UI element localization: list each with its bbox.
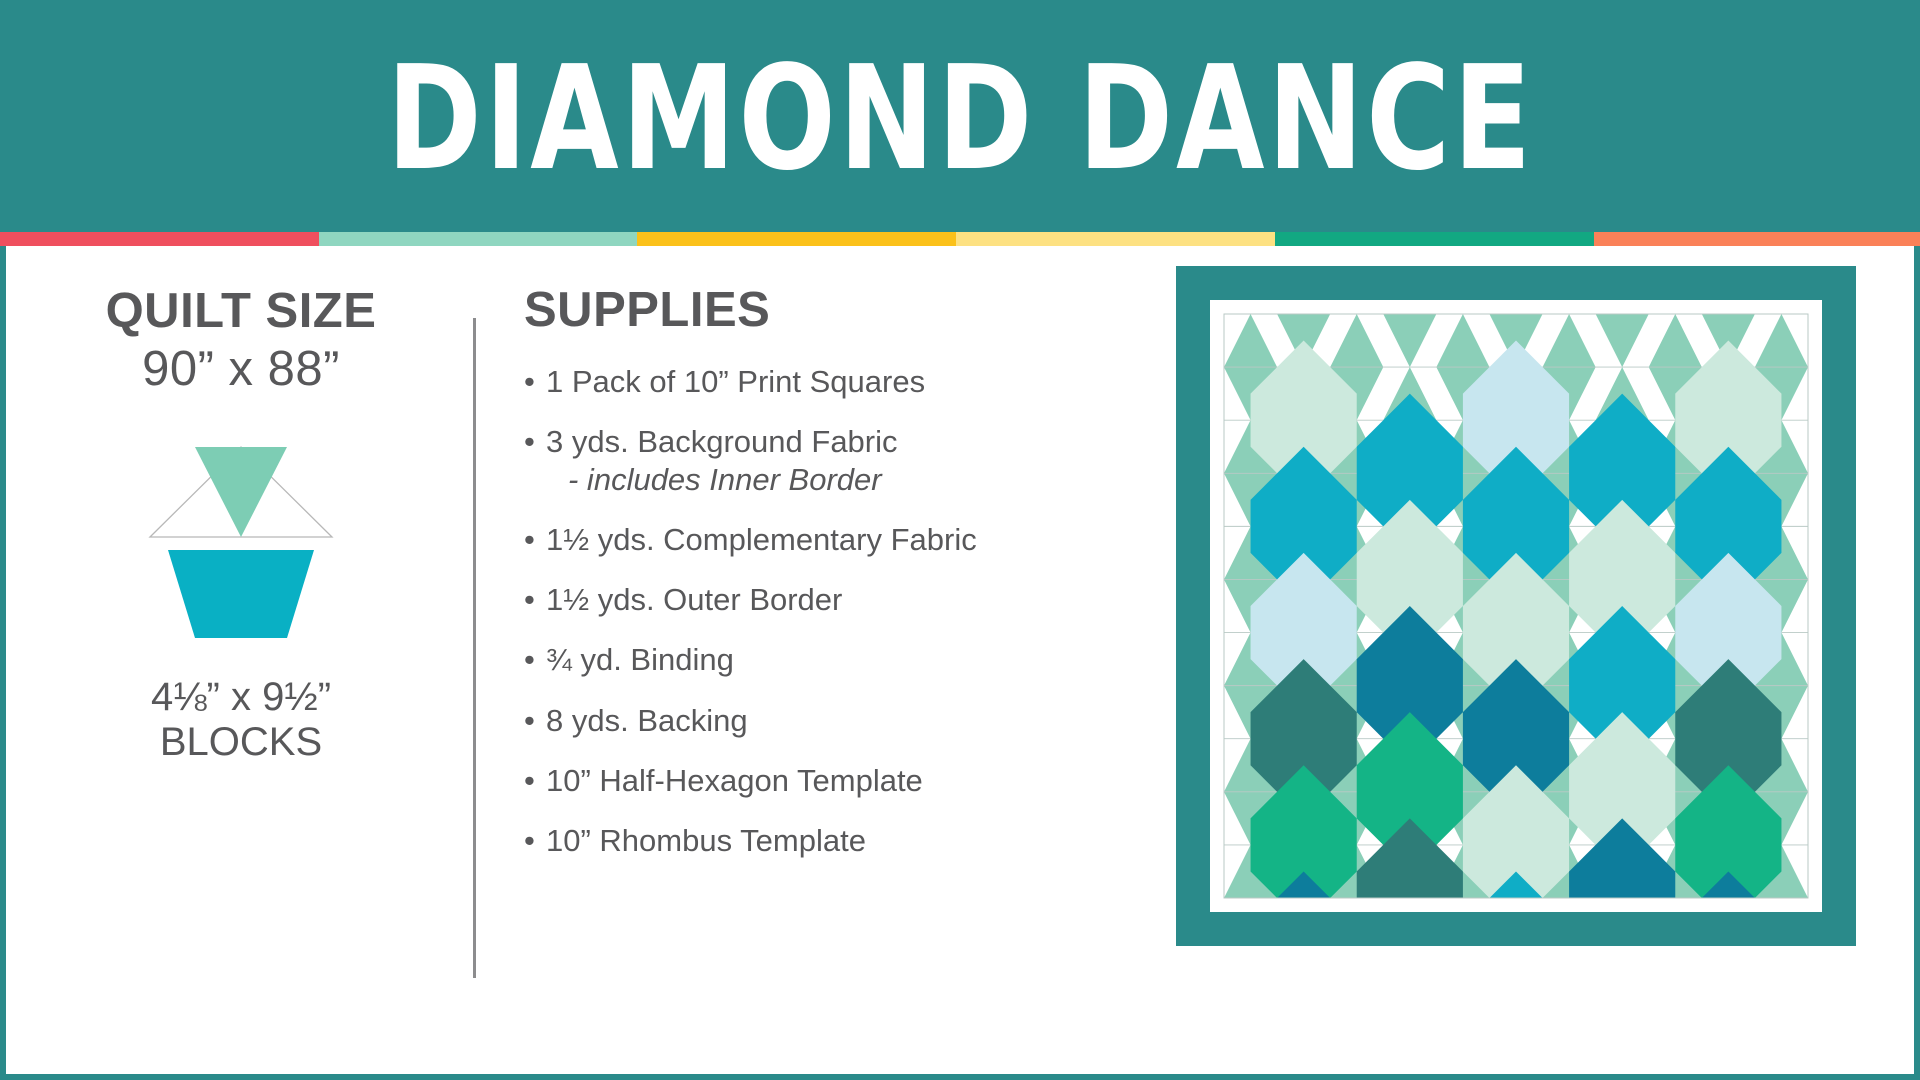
supply-list-item: •10” Rhombus Template bbox=[524, 824, 1164, 858]
quilt-diagram-svg bbox=[1176, 266, 1856, 946]
supply-item-text: 10” Half-Hexagon Template bbox=[546, 763, 923, 798]
block-size-value: 4⅛” x 9½” bbox=[6, 675, 476, 720]
block-size-label: BLOCKS bbox=[6, 720, 476, 765]
quilt-pattern-group bbox=[1224, 314, 1808, 946]
supply-list-item: •8 yds. Backing bbox=[524, 704, 1164, 738]
content-panel: QUILT SIZE 90” x 88” 4⅛” x 9½” BLOCKS SU… bbox=[6, 246, 1914, 1074]
supply-item-text: 1½ yds. Complementary Fabric bbox=[546, 522, 977, 557]
supply-item-text: 3 yds. Background Fabric bbox=[546, 424, 898, 459]
bullet-icon: • bbox=[524, 824, 535, 858]
stripe-segment-pale-yellow bbox=[956, 232, 1275, 246]
infographic-page: DIAMOND DANCE QUILT SIZE 90” x 88” 4⅛” x… bbox=[0, 0, 1920, 1080]
supply-list-item: •10” Half-Hexagon Template bbox=[524, 764, 1164, 798]
bullet-icon: • bbox=[524, 764, 535, 798]
quilt-illustration bbox=[1176, 266, 1856, 946]
bullet-icon: • bbox=[524, 643, 535, 677]
supply-item-note: - includes Inner Border bbox=[568, 463, 1164, 497]
bullet-icon: • bbox=[524, 523, 535, 557]
accent-stripe bbox=[0, 232, 1920, 246]
supply-list-item: •1½ yds. Complementary Fabric bbox=[524, 523, 1164, 557]
column-divider bbox=[473, 318, 476, 978]
bullet-icon: • bbox=[524, 704, 535, 738]
supplies-heading: SUPPLIES bbox=[524, 286, 1164, 335]
supply-item-text: 8 yds. Backing bbox=[546, 703, 748, 738]
bullet-icon: • bbox=[524, 365, 535, 399]
half-hexagon-shape bbox=[168, 550, 314, 638]
bullet-icon: • bbox=[524, 583, 535, 617]
block-diagram bbox=[146, 441, 336, 641]
supply-list-item: •1½ yds. Outer Border bbox=[524, 583, 1164, 617]
supplies-list: •1 Pack of 10” Print Squares•3 yds. Back… bbox=[524, 365, 1164, 858]
stripe-segment-coral-red bbox=[0, 232, 319, 246]
stripe-segment-orange bbox=[1594, 232, 1920, 246]
supply-item-text: 10” Rhombus Template bbox=[546, 823, 866, 858]
supply-item-text: 1½ yds. Outer Border bbox=[546, 582, 842, 617]
block-diagram-svg bbox=[146, 441, 336, 641]
supply-list-item: •1 Pack of 10” Print Squares bbox=[524, 365, 1164, 399]
supply-list-item: •¾ yd. Binding bbox=[524, 643, 1164, 677]
bullet-icon: • bbox=[524, 425, 535, 459]
stripe-segment-emerald-teal bbox=[1275, 232, 1594, 246]
supply-item-text: 1 Pack of 10” Print Squares bbox=[546, 364, 925, 399]
quilt-size-heading: QUILT SIZE bbox=[6, 286, 476, 337]
stripe-segment-golden-yellow bbox=[637, 232, 956, 246]
page-title: DIAMOND DANCE bbox=[386, 46, 1533, 190]
quilt-size-value: 90” x 88” bbox=[6, 343, 476, 397]
header-banner: DIAMOND DANCE bbox=[0, 0, 1920, 232]
supply-item-text: ¾ yd. Binding bbox=[546, 642, 734, 677]
quilt-size-column: QUILT SIZE 90” x 88” 4⅛” x 9½” BLOCKS bbox=[6, 286, 476, 765]
stripe-segment-mint-green bbox=[319, 232, 638, 246]
supplies-column: SUPPLIES •1 Pack of 10” Print Squares•3 … bbox=[524, 286, 1164, 884]
supply-list-item: •3 yds. Background Fabric- includes Inne… bbox=[524, 425, 1164, 497]
